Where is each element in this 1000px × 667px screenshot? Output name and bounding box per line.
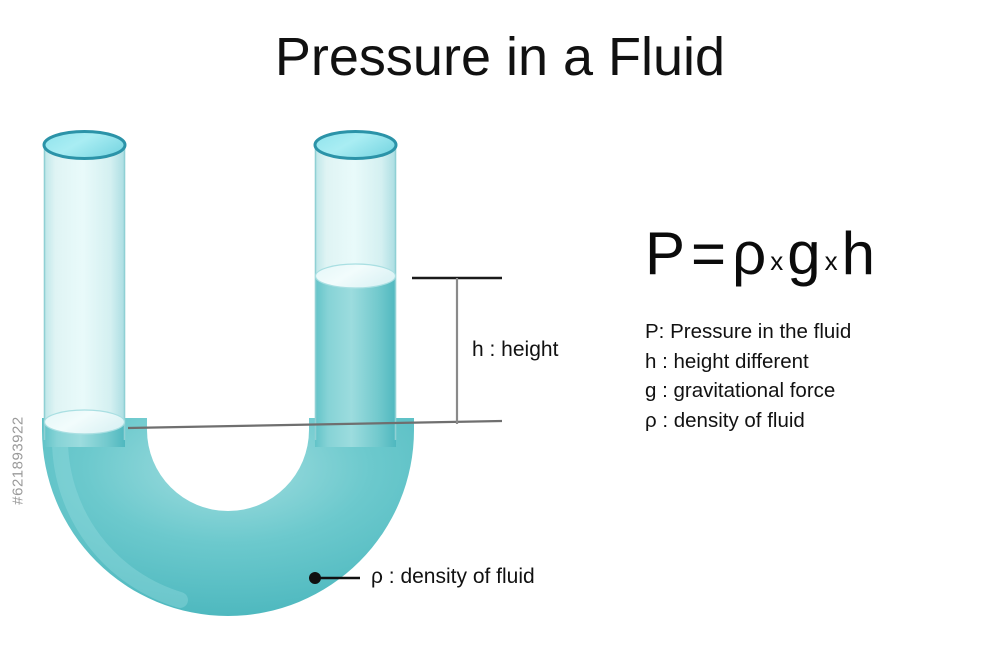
legend-item-density: ρ : density of fluid (645, 406, 851, 436)
formula-p: P (645, 220, 685, 287)
pressure-formula: P=ρxgxh (645, 224, 875, 284)
illustration-canvas: Pressure in a Fluid (0, 0, 1000, 667)
height-annotation-label: h : height (472, 338, 558, 362)
u-bend-fluid (42, 418, 414, 616)
formula-h: h (842, 220, 875, 287)
formula-multiply-1: x (766, 246, 787, 276)
stock-watermark-id: #621893922 (10, 401, 27, 521)
legend-item-pressure: P: Pressure in the fluid (645, 317, 851, 347)
formula-g: g (787, 220, 820, 287)
density-annotation-label: ρ : density of fluid (371, 565, 535, 589)
left-tube-fluid-surface (45, 410, 125, 434)
right-tube-rim (315, 132, 396, 159)
left-tube (44, 146, 125, 448)
legend-item-height: h : height different (645, 347, 851, 377)
formula-multiply-2: x (821, 246, 842, 276)
formula-legend: P: Pressure in the fluid h : height diff… (645, 317, 851, 435)
legend-item-gravity: g : gravitational force (645, 376, 851, 406)
formula-equals: = (691, 220, 726, 287)
right-tube (315, 146, 396, 448)
formula-rho: ρ (732, 220, 766, 287)
right-tube-fluid-surface (316, 264, 396, 288)
left-tube-rim (44, 132, 125, 159)
